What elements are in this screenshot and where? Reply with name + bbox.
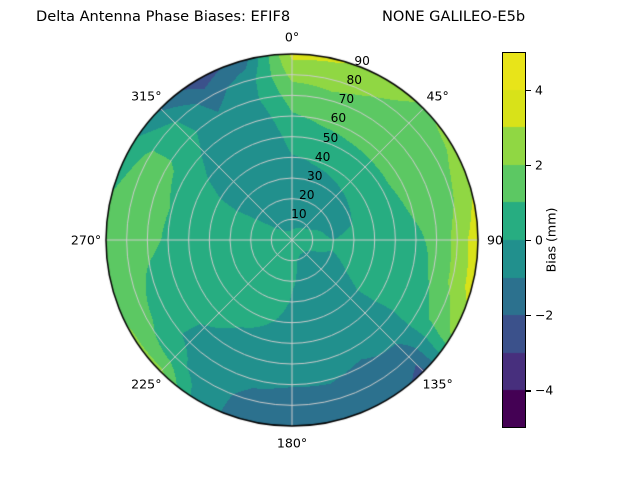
colorbar-tick-4 — [526, 90, 531, 91]
azimuth-label-45: 45° — [426, 89, 448, 104]
colorbar: 420−2−4 — [502, 52, 526, 428]
colorbar-tick-2 — [526, 165, 531, 166]
colorbar-tick--2 — [526, 315, 531, 316]
figure-canvas: Delta Antenna Phase Biases: EFIF8 NONE G… — [0, 0, 640, 480]
azimuth-label-90: 90 — [487, 233, 503, 248]
azimuth-label-315: 315° — [131, 89, 161, 104]
radial-label-70: 70 — [339, 92, 355, 106]
colorbar-tick-label--4: −4 — [535, 383, 553, 398]
azimuth-label-135: 135° — [422, 376, 452, 391]
colorbar-tick--4 — [526, 390, 531, 391]
radial-label-10: 10 — [291, 207, 307, 221]
radial-label-90: 90 — [354, 54, 370, 68]
colorbar-axis-label: Bias (mm) — [544, 208, 559, 273]
azimuth-label-0: 0° — [285, 30, 299, 45]
colorbar-tick-label-4: 4 — [535, 82, 543, 97]
azimuth-label-225: 225° — [131, 376, 161, 391]
radial-label-50: 50 — [323, 131, 339, 145]
radial-label-30: 30 — [307, 169, 323, 183]
radial-label-20: 20 — [299, 188, 315, 202]
azimuth-label-270: 270° — [71, 233, 101, 248]
colorbar-tick-label-0: 0 — [535, 233, 543, 248]
colorbar-gradient — [502, 52, 526, 428]
radial-label-80: 80 — [347, 73, 363, 87]
azimuth-label-180: 180° — [277, 436, 307, 451]
colorbar-tick-label-2: 2 — [535, 157, 543, 172]
colorbar-tick-label--2: −2 — [535, 308, 553, 323]
colorbar-tick-0 — [526, 240, 531, 241]
radial-label-40: 40 — [315, 150, 331, 164]
radial-label-60: 60 — [331, 111, 347, 125]
